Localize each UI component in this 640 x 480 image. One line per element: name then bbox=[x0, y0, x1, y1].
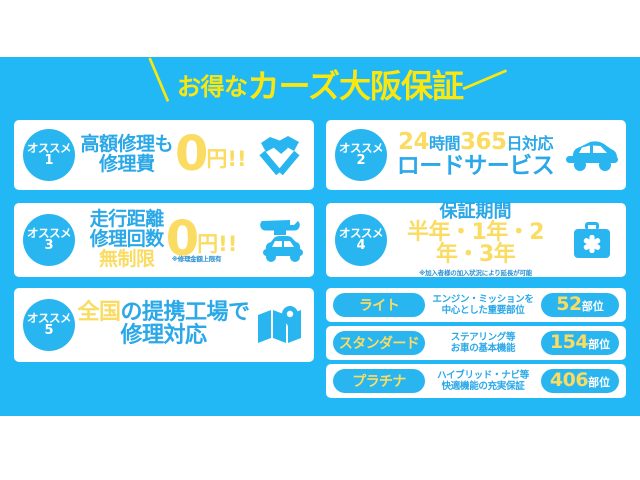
recommend-badge-4: オススメ 4 bbox=[335, 214, 387, 266]
crossed-hammers-icon bbox=[252, 134, 308, 176]
recommend-badge-2: オススメ 2 bbox=[335, 129, 387, 181]
plan-name-pill: プラチナ bbox=[333, 369, 425, 393]
bottom-white-band bbox=[0, 416, 640, 480]
plan-count-number: 406 bbox=[550, 369, 588, 391]
header-text-large: カーズ大阪保証 bbox=[248, 61, 463, 107]
card-3-note: ※修理金額上限有 bbox=[172, 253, 221, 263]
plan-count-pill: 52 部位 bbox=[541, 293, 619, 317]
card-2-hours-number: 24 bbox=[398, 129, 429, 155]
plan-row-platinum: プラチナ ハイブリッド・ナビ等 快適機能の充実保証 406 部位 bbox=[326, 364, 626, 398]
card-1-line2: 修理費 bbox=[80, 155, 173, 175]
top-white-band bbox=[0, 0, 640, 57]
plan-row-light: ライト エンジン・ミッションを 中心とした重要部位 52 部位 bbox=[326, 288, 626, 322]
card-5-highlight: 全国 bbox=[77, 300, 120, 325]
benefit-card-1-body: 高額修理も 修理費 0 円!! bbox=[75, 120, 252, 190]
plan-desc-line2: 快適機能の充実保証 bbox=[428, 381, 538, 392]
recommend-badge-3: オススメ 3 bbox=[23, 214, 75, 266]
plan-count-pill: 154 部位 bbox=[541, 331, 619, 355]
poster-header: ＼ お得な カーズ大阪保証 ／ bbox=[0, 58, 640, 110]
plan-name-pill: スタンダード bbox=[333, 331, 425, 355]
plan-desc-line1: エンジン・ミッションを bbox=[428, 294, 538, 305]
plan-count-unit: 部位 bbox=[582, 298, 604, 314]
plan-count-number: 52 bbox=[556, 293, 581, 315]
card-3-line3: 無制限 bbox=[90, 250, 164, 270]
card-4-note: ※加入者様の加入状況により延長が可能 bbox=[387, 270, 564, 277]
card-2-hours-unit: 時間 bbox=[429, 134, 460, 153]
plan-desc-line2: 中心とした重要部位 bbox=[428, 305, 538, 316]
card-4-line2: 半年・1年・2年・3年 bbox=[387, 222, 564, 268]
badge-number: 4 bbox=[356, 239, 365, 252]
plan-description: ステアリング等 お車の基本機能 bbox=[425, 332, 541, 355]
card-1-text: 高額修理も 修理費 bbox=[80, 135, 173, 175]
plan-desc-line1: ハイブリッド・ナビ等 bbox=[428, 370, 538, 381]
card-3-text: 走行距離 修理回数 無制限 bbox=[90, 210, 164, 269]
benefit-card-2-body: 24時間365日対応 ロードサービス bbox=[387, 120, 564, 190]
benefit-card-5-body: 全国の提携工場で 修理対応 bbox=[75, 288, 252, 362]
slash-left-decoration: ＼ bbox=[134, 59, 181, 106]
card-5-line1: 全国の提携工場で bbox=[77, 302, 249, 325]
card-4-line1: 保証期間 bbox=[387, 203, 564, 222]
card-1-amount: 0 円!! bbox=[175, 134, 247, 175]
plan-description: エンジン・ミッションを 中心とした重要部位 bbox=[425, 294, 541, 317]
card-2-line2: ロードサービス bbox=[397, 155, 555, 179]
benefit-card-1: オススメ 1 高額修理も 修理費 0 円!! bbox=[14, 120, 314, 190]
medical-bag-icon bbox=[564, 219, 620, 261]
badge-number: 1 bbox=[44, 154, 53, 167]
benefit-card-3-body: 走行距離 修理回数 無制限 0 円!! ※修理金額上限有 bbox=[75, 203, 252, 277]
plan-count-unit: 部位 bbox=[588, 336, 610, 352]
benefit-card-5: オススメ 5 全国の提携工場で 修理対応 bbox=[14, 288, 314, 362]
card-3-amount: 0 円!! ※修理金額上限有 bbox=[166, 219, 238, 260]
card-5-line2: 修理対応 bbox=[77, 325, 249, 348]
plan-desc-line2: お車の基本機能 bbox=[428, 343, 538, 354]
badge-number: 3 bbox=[44, 239, 53, 252]
plan-count-pill: 406 部位 bbox=[541, 369, 619, 393]
recommend-badge-5: オススメ 5 bbox=[23, 299, 75, 351]
card-4-text: 保証期間 半年・1年・2年・3年 ※加入者様の加入状況により延長が可能 bbox=[387, 203, 564, 277]
benefit-card-4-body: 保証期間 半年・1年・2年・3年 ※加入者様の加入状況により延長が可能 bbox=[387, 203, 564, 277]
recommend-badge-1: オススメ 1 bbox=[23, 129, 75, 181]
card-5-text: 全国の提携工場で 修理対応 bbox=[77, 302, 249, 348]
plan-row-standard: スタンダード ステアリング等 お車の基本機能 154 部位 bbox=[326, 326, 626, 360]
warranty-poster: ＼ お得な カーズ大阪保証 ／ オススメ 1 高額修理も 修理費 0 円!! bbox=[0, 0, 640, 480]
benefit-card-4: オススメ 4 保証期間 半年・1年・2年・3年 ※加入者様の加入状況により延長が… bbox=[326, 203, 626, 277]
map-pin-icon bbox=[252, 305, 308, 345]
card-2-days-unit: 日対応 bbox=[507, 134, 554, 153]
badge-number: 2 bbox=[356, 154, 365, 167]
benefit-card-2: オススメ 2 24時間365日対応 ロードサービス bbox=[326, 120, 626, 190]
badge-number: 5 bbox=[44, 324, 53, 337]
card-2-text: 24時間365日対応 ロードサービス bbox=[397, 131, 555, 179]
plan-count-number: 154 bbox=[550, 331, 588, 353]
benefit-card-3: オススメ 3 走行距離 修理回数 無制限 0 円!! ※修理金額上限有 bbox=[14, 203, 314, 277]
card-5-line1-rest: の提携工場で bbox=[121, 300, 250, 325]
card-1-amount-unit: 円!! bbox=[206, 143, 246, 176]
plan-name-pill: ライト bbox=[333, 293, 425, 317]
slash-right-decoration: ／ bbox=[460, 59, 507, 106]
card-3-line2: 修理回数 bbox=[90, 230, 164, 250]
car-wrench-icon bbox=[252, 216, 308, 264]
card-2-days-number: 365 bbox=[460, 129, 507, 155]
header-text-small: お得な bbox=[177, 67, 248, 102]
card-1-amount-number: 0 bbox=[175, 134, 208, 175]
plan-desc-line1: ステアリング等 bbox=[428, 332, 538, 343]
plan-count-unit: 部位 bbox=[588, 374, 610, 390]
plan-description: ハイブリッド・ナビ等 快適機能の充実保証 bbox=[425, 370, 541, 393]
car-side-icon bbox=[564, 138, 620, 172]
card-2-line1: 24時間365日対応 bbox=[397, 131, 555, 155]
